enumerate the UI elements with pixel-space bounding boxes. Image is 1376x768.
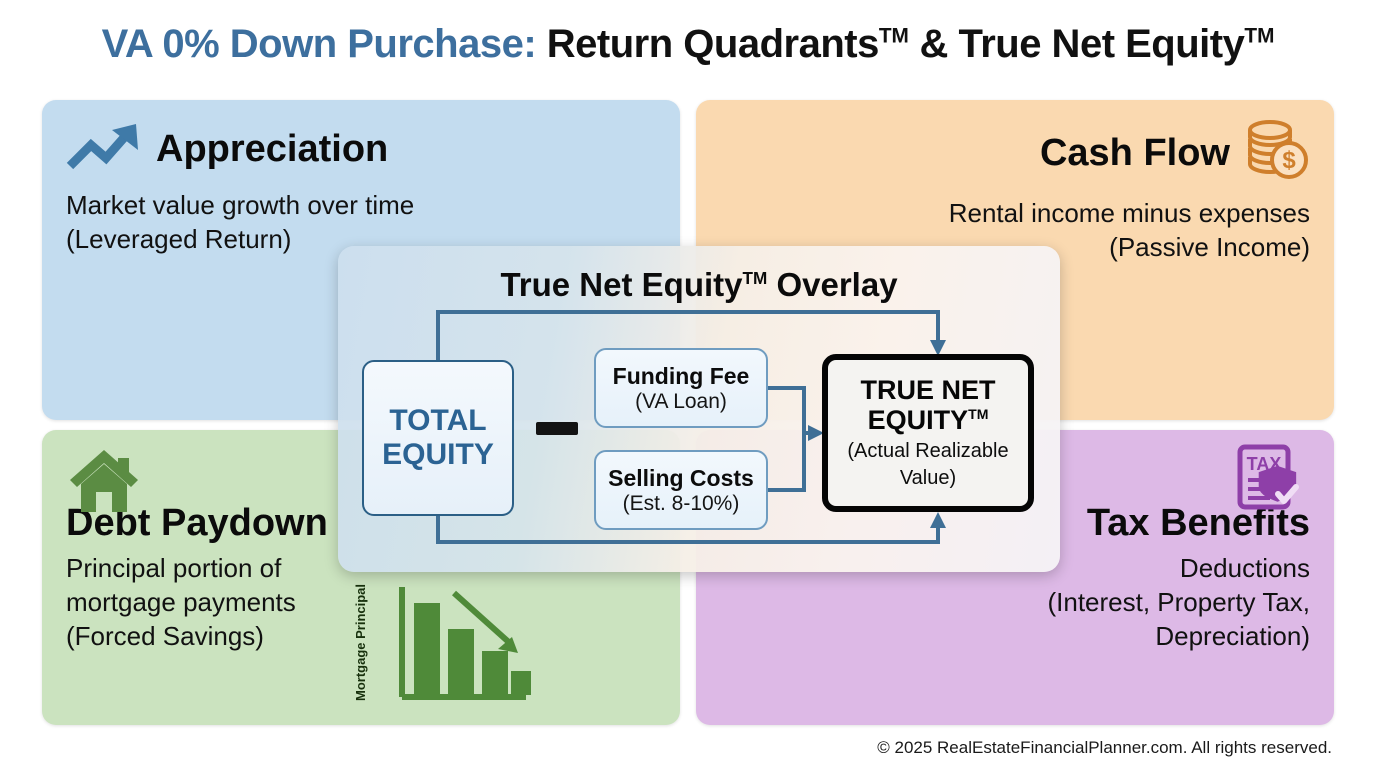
appreciation-title: Appreciation <box>156 130 388 168</box>
appreciation-header: Appreciation <box>66 118 656 179</box>
total-equity-line1: TOTAL <box>389 404 486 438</box>
page-title: VA 0% Down Purchase: Return QuadrantsTM … <box>0 22 1376 67</box>
true-net-equity-overlay: True Net EquityTM Overlay TOTAL EQUITY <box>338 246 1060 572</box>
tne-line1: TRUE NET <box>861 376 996 406</box>
minus-operator-icon <box>536 422 578 435</box>
selling-costs-line2: (Est. 8-10%) <box>623 492 740 516</box>
coin-stack-dollar-icon: $ <box>1244 118 1310 187</box>
title-tm-1: TM <box>879 25 909 48</box>
arrow-head-bottom <box>930 512 946 528</box>
title-black-segment: Return Quadrants <box>536 22 879 66</box>
total-equity-box[interactable]: TOTAL EQUITY <box>362 360 514 516</box>
tax-benefits-desc-line3: Depreciation) <box>720 620 1310 654</box>
tne-tm: TM <box>968 406 988 422</box>
tne-line2: EQUITY <box>868 405 969 435</box>
copyright-footer: © 2025 RealEstateFinancialPlanner.com. A… <box>877 738 1332 758</box>
tax-benefits-desc-line2: (Interest, Property Tax, <box>720 586 1310 620</box>
title-tm-2: TM <box>1244 25 1274 48</box>
cash-flow-header: Cash Flow $ <box>720 118 1310 187</box>
total-equity-line2: EQUITY <box>382 438 494 472</box>
tne-sub2: Value) <box>900 467 956 490</box>
infographic-page: VA 0% Down Purchase: Return QuadrantsTM … <box>0 0 1376 768</box>
svg-text:$: $ <box>1282 147 1296 174</box>
selling-costs-box[interactable]: Selling Costs (Est. 8-10%) <box>594 450 768 530</box>
tne-sub1: (Actual Realizable <box>847 440 1008 463</box>
tne-line2-wrap: EQUITYTM <box>868 406 989 436</box>
funding-fee-box[interactable]: Funding Fee (VA Loan) <box>594 348 768 428</box>
mortgage-principal-axis-label: Mortgage Principal <box>353 584 368 701</box>
true-net-equity-box[interactable]: TRUE NET EQUITYTM (Actual Realizable Val… <box>822 354 1034 512</box>
title-blue-segment: VA 0% Down Purchase: <box>102 22 537 66</box>
appreciation-desc-line1: Market value growth over time <box>66 189 656 223</box>
title-black-segment-2: & True Net Equity <box>909 22 1245 66</box>
mortgage-principal-bar-chart: Mortgage Principal <box>372 583 552 713</box>
funding-fee-line1: Funding Fee <box>613 363 750 390</box>
house-icon <box>64 444 144 521</box>
cash-flow-title: Cash Flow <box>1040 134 1230 172</box>
selling-costs-line1: Selling Costs <box>608 465 754 492</box>
trending-up-arrow-icon <box>66 118 142 179</box>
tax-document-shield-icon: TAX <box>1234 442 1310 523</box>
funding-fee-line2: (VA Loan) <box>635 390 727 414</box>
cash-flow-desc-line1: Rental income minus expenses <box>720 197 1310 231</box>
